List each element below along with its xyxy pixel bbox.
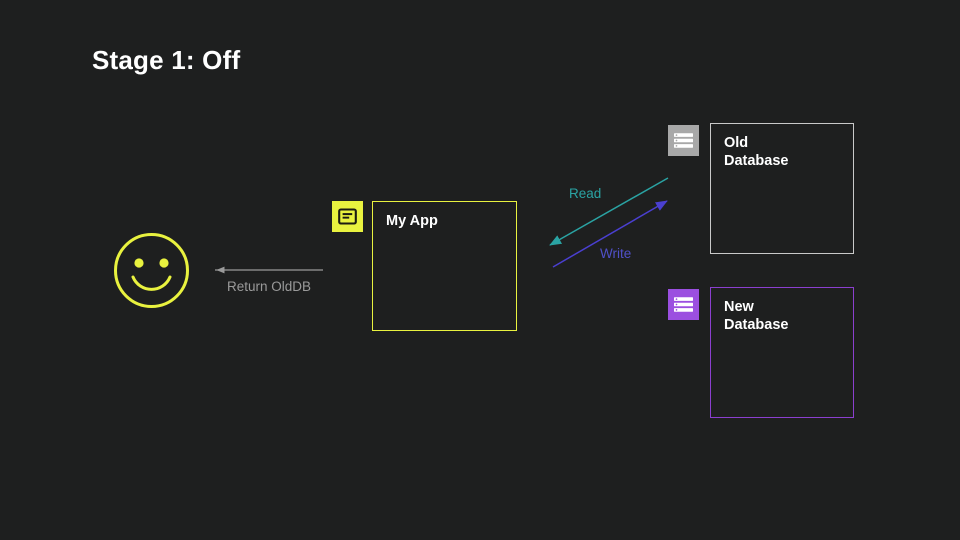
smiley-face-icon: [113, 232, 190, 309]
edge-read-label: Read: [569, 186, 601, 201]
node-my-app[interactable]: My App: [372, 201, 517, 331]
node-old-database-label: Old Database: [724, 134, 788, 170]
app-window-icon: [332, 201, 363, 232]
old-database-list-icon: [668, 125, 699, 156]
node-old-database[interactable]: Old Database: [710, 123, 854, 254]
edge-return-label: Return OldDB: [227, 279, 311, 294]
new-database-list-icon: [668, 289, 699, 320]
page-title: Stage 1: Off: [92, 45, 240, 76]
node-my-app-label: My App: [386, 212, 438, 230]
node-new-database-label: New Database: [724, 298, 788, 334]
edge-read-arrow: [550, 178, 668, 245]
node-new-database[interactable]: New Database: [710, 287, 854, 418]
edge-write-label: Write: [600, 246, 631, 261]
slide-canvas: Stage 1: Off My App Old Database: [0, 0, 960, 540]
